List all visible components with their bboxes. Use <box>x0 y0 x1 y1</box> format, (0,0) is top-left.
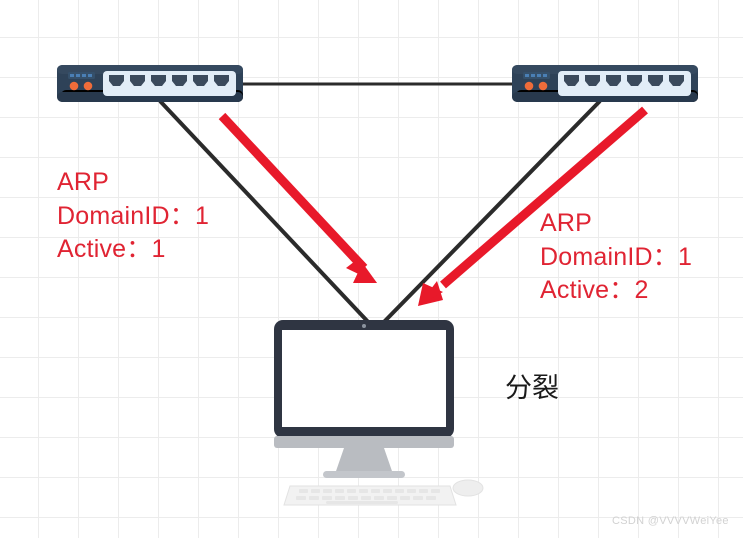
switch-left[interactable] <box>57 65 243 102</box>
desktop-computer[interactable] <box>274 320 483 505</box>
monitor-chin <box>274 436 454 448</box>
monitor-base <box>323 471 405 478</box>
arp-label-right-line1: ARP <box>540 207 692 241</box>
monitor-stand <box>335 448 393 474</box>
watermark: CSDN @VVVVWeiYee <box>612 515 729 527</box>
arp-label-left: ARP DomainID：1 Active：1 <box>57 166 209 267</box>
arp-label-right: ARP DomainID：1 Active：2 <box>540 207 692 308</box>
arp-label-left-line3: Active：1 <box>57 233 209 267</box>
monitor-screen <box>282 330 446 427</box>
arp-label-right-line3: Active：2 <box>540 274 692 308</box>
diagram-canvas: ARP DomainID：1 Active：1 ARP DomainID：1 A… <box>0 0 743 538</box>
arp-label-right-line2: DomainID：1 <box>540 241 692 275</box>
arp-label-left-line1: ARP <box>57 166 209 200</box>
keyboard[interactable] <box>284 486 456 505</box>
mouse[interactable] <box>453 480 483 496</box>
arp-flow-left <box>222 116 377 283</box>
split-label: 分裂 <box>505 372 559 404</box>
webcam-icon <box>362 324 366 328</box>
arp-label-left-line2: DomainID：1 <box>57 200 209 234</box>
switch-right[interactable] <box>512 65 698 102</box>
